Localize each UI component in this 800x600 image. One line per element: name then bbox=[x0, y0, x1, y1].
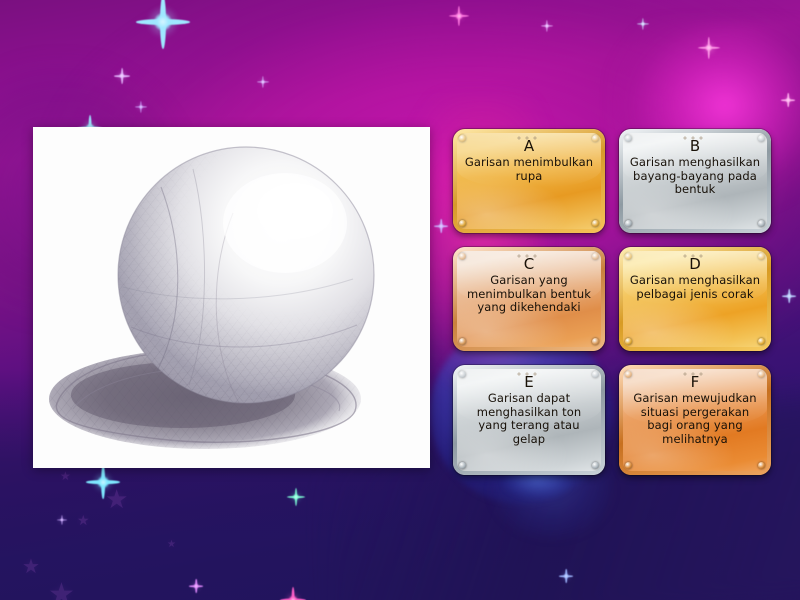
rivet-icon bbox=[592, 135, 599, 142]
decorative-star-icon: ★ bbox=[60, 470, 71, 482]
answer-card-text: Garisan mewujudkan situasi pergerakan ba… bbox=[627, 392, 763, 447]
answer-card-text: Garisan menghasilkan bayang-bayang pada … bbox=[627, 156, 763, 197]
question-image-panel bbox=[33, 127, 430, 468]
answer-card-letter: B bbox=[690, 138, 700, 155]
rivet-icon bbox=[625, 338, 632, 345]
answer-card-letter: E bbox=[524, 374, 533, 391]
rivet-icon bbox=[592, 462, 599, 469]
answer-card-c[interactable]: CGarisan yang menimbulkan bentuk yang di… bbox=[453, 247, 605, 351]
decorative-star-icon: ★ bbox=[22, 556, 40, 576]
rivet-icon bbox=[625, 371, 632, 378]
rivet-icon bbox=[592, 220, 599, 227]
answer-card-letter: F bbox=[691, 374, 700, 391]
answer-card-letter: A bbox=[524, 138, 534, 155]
decorative-star-icon: ★ bbox=[167, 540, 176, 550]
rivet-icon bbox=[625, 220, 632, 227]
rivet-icon bbox=[625, 462, 632, 469]
rivet-icon bbox=[459, 338, 466, 345]
sphere-pencil-drawing bbox=[33, 127, 430, 468]
rivet-icon bbox=[592, 338, 599, 345]
answer-cards-grid: AGarisan menimbulkan rupaBGarisan mengha… bbox=[453, 129, 771, 477]
rivet-icon bbox=[459, 135, 466, 142]
answer-card-f[interactable]: FGarisan mewujudkan situasi pergerakan b… bbox=[619, 365, 771, 475]
answer-card-text: Garisan menimbulkan rupa bbox=[461, 156, 597, 184]
answer-card-d[interactable]: DGarisan menghasilkan pelbagai jenis cor… bbox=[619, 247, 771, 351]
answer-card-b[interactable]: BGarisan menghasilkan bayang-bayang pada… bbox=[619, 129, 771, 233]
rivet-icon bbox=[758, 135, 765, 142]
answer-card-text: Garisan yang menimbulkan bentuk yang dik… bbox=[461, 274, 597, 315]
rivet-icon bbox=[758, 462, 765, 469]
rivet-icon bbox=[758, 338, 765, 345]
rivet-icon bbox=[625, 135, 632, 142]
notch-dots-icon bbox=[681, 372, 719, 376]
decorative-star-icon: ★ bbox=[48, 580, 75, 600]
answer-card-letter: D bbox=[689, 256, 701, 273]
rivet-icon bbox=[758, 371, 765, 378]
rivet-icon bbox=[592, 371, 599, 378]
answer-card-text: Garisan dapat menghasilkan ton yang tera… bbox=[461, 392, 597, 447]
sphere bbox=[118, 147, 374, 403]
decorative-star-icon: ★ bbox=[105, 487, 128, 513]
answer-card-e[interactable]: EGarisan dapat menghasilkan ton yang ter… bbox=[453, 365, 605, 475]
app-stage: ★★★★★★ bbox=[0, 0, 800, 600]
notch-dots-icon bbox=[515, 372, 553, 376]
answer-card-letter: C bbox=[524, 256, 534, 273]
rivet-icon bbox=[459, 462, 466, 469]
decorative-star-icon: ★ bbox=[77, 514, 90, 528]
rivet-icon bbox=[459, 371, 466, 378]
answer-card-a[interactable]: AGarisan menimbulkan rupa bbox=[453, 129, 605, 233]
rivet-icon bbox=[459, 220, 466, 227]
rivet-icon bbox=[758, 220, 765, 227]
answer-card-text: Garisan menghasilkan pelbagai jenis cora… bbox=[627, 274, 763, 302]
rivet-icon bbox=[592, 253, 599, 260]
rivet-icon bbox=[625, 253, 632, 260]
rivet-icon bbox=[758, 253, 765, 260]
rivet-icon bbox=[459, 253, 466, 260]
